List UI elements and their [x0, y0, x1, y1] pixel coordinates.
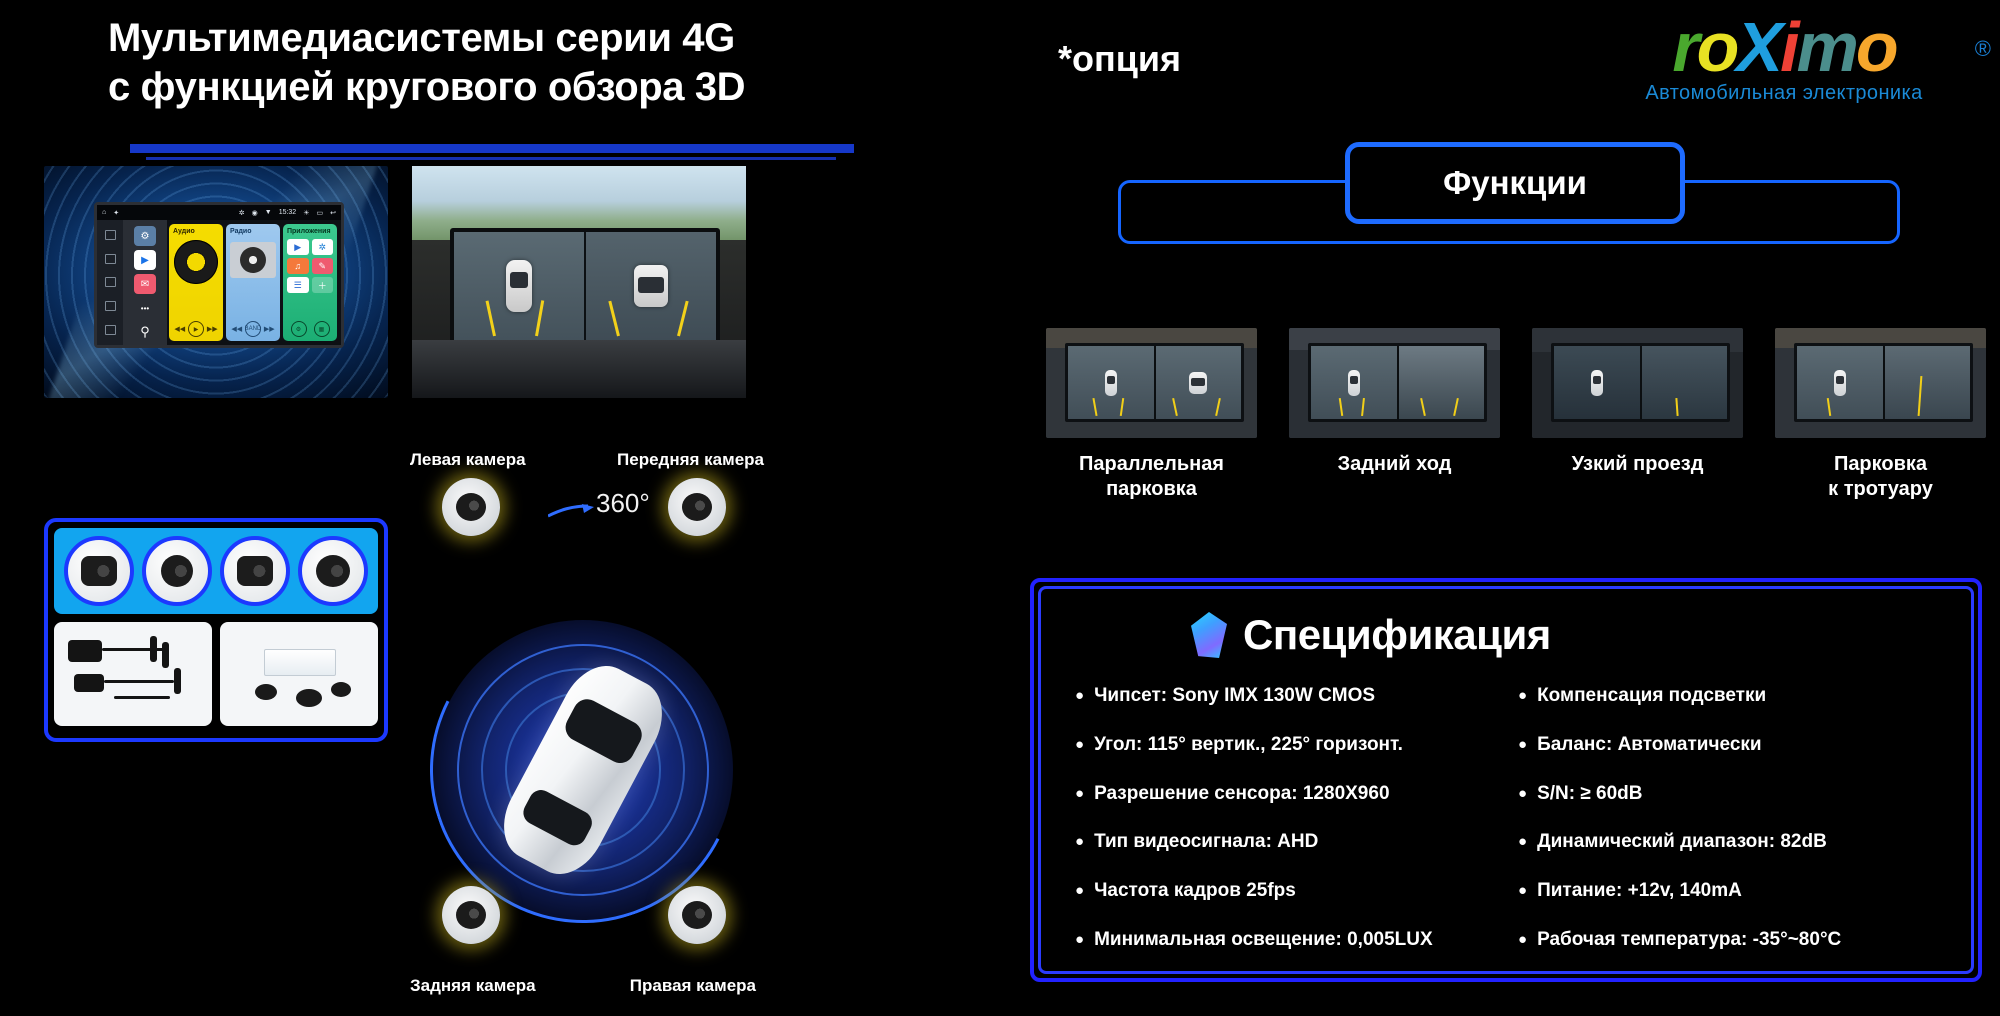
car-top-view	[506, 260, 532, 312]
window-icon[interactable]: ▭	[317, 209, 324, 217]
spec-item-text: Чипсет: Sony IMX 130W CMOS	[1094, 685, 1375, 708]
play-store-icon[interactable]: ▶	[134, 250, 156, 270]
card-radio[interactable]: Радио ◀◀ BAND ▶▶	[226, 224, 280, 341]
spec-item-text: Тип видеосигнала: AHD	[1094, 831, 1318, 854]
camera-thumb-1	[64, 536, 134, 606]
logo-letter-i: i	[1780, 6, 1796, 88]
vinyl-icon: ♪	[174, 240, 218, 284]
card-radio-title: Радио	[230, 228, 276, 235]
spec-item: ●Минимальная освещение: 0,005LUX	[1075, 929, 1494, 952]
spec-item-text: Питание: +12v, 140mA	[1537, 880, 1742, 903]
mail-icon[interactable]: ✉	[134, 274, 156, 294]
label-camera-right: Правая камера	[630, 976, 756, 996]
camera-360-diagram: 360° Левая камера Передняя камера Задняя…	[400, 452, 766, 998]
specification-title: Спецификация	[1243, 611, 1551, 659]
equalizer-icon[interactable]: ☰	[287, 277, 309, 293]
bullet-icon: ●	[1075, 929, 1084, 951]
functions-grid: Параллельная парковка Задний ход	[1046, 328, 1986, 514]
specification-column-left: ●Чипсет: Sony IMX 130W CMOS ●Угол: 115° …	[1075, 685, 1494, 978]
head-unit-photo: ⌂ ✦ ✲ ◉ ▼ 15:32 ☀ ▭ ↩	[44, 166, 388, 398]
label-camera-left: Левая камера	[410, 452, 526, 470]
degrees-label: 360°	[596, 488, 650, 519]
logo-letter-o2: o	[1856, 6, 1896, 88]
spec-item-text: Баланс: Автоматически	[1537, 734, 1762, 757]
brand-logo-wordmark: roXimo ®	[1584, 6, 1984, 88]
mounting-kit-photo	[220, 622, 378, 726]
photo-dashboard	[412, 340, 746, 398]
camera-badge-left	[442, 478, 500, 536]
function-label-line2: парковка	[1079, 477, 1224, 502]
title-underline-secondary	[146, 157, 836, 160]
function-label-line1: Параллельная	[1079, 452, 1224, 477]
play-icon[interactable]: ▶	[188, 321, 204, 337]
spec-item-text: Компенсация подсветки	[1537, 685, 1766, 708]
bullet-icon: ●	[1075, 880, 1084, 902]
spec-item: ●Рабочая температура: -35°~80°C	[1518, 929, 1937, 952]
card-apps-title: Приложения	[287, 228, 333, 235]
function-label-line1: Задний ход	[1338, 452, 1452, 477]
brand-logo: roXimo ® Автомобильная электроника	[1584, 6, 1984, 124]
spec-item: ●Разрешение сенсора: 1280X960	[1075, 783, 1494, 806]
card-audio[interactable]: Аудио ♪ ◀◀ ▶ ▶▶	[169, 224, 223, 341]
logo-letter-m: m	[1797, 6, 1856, 88]
camera-lineup	[54, 528, 378, 614]
specification-column-right: ●Компенсация подсветки ●Баланс: Автомати…	[1518, 685, 1937, 978]
power-icon[interactable]	[105, 230, 116, 240]
option-note: *опция	[1058, 38, 1181, 80]
functions-title-chip: Функции	[1345, 142, 1685, 224]
navigation-icon[interactable]: ⚲	[134, 322, 156, 342]
specification-header: Спецификация	[1041, 589, 1971, 659]
function-parallel-parking[interactable]: Параллельная парковка	[1046, 328, 1257, 514]
function-label-line1: Узкий проезд	[1572, 452, 1704, 477]
registered-icon: ®	[1975, 8, 1988, 90]
spec-item: ●Тип видеосигнала: AHD	[1075, 831, 1494, 854]
rotation-arrow-icon	[548, 504, 594, 518]
spec-item-text: Минимальная освещение: 0,005LUX	[1094, 929, 1433, 952]
band-button[interactable]: BAND	[245, 321, 261, 337]
bullet-icon: ●	[1518, 929, 1527, 951]
crystal-icon	[1191, 612, 1227, 658]
apps-bottom-row: ⚙ ▦	[287, 321, 333, 337]
music-icon[interactable]: ♫	[287, 258, 309, 274]
camera-badge-rear	[442, 886, 500, 944]
function-narrow-passage[interactable]: Узкий проезд	[1532, 328, 1743, 514]
audio-transport: ◀◀ ▶ ▶▶	[173, 321, 219, 337]
apps-icon[interactable]	[105, 254, 116, 264]
spec-item: ●Баланс: Автоматически	[1518, 734, 1937, 757]
prev-icon[interactable]: ◀◀	[231, 325, 242, 333]
more-icon[interactable]: •••	[134, 298, 156, 318]
next-icon[interactable]: ▶▶	[207, 325, 218, 333]
dash-screen	[450, 228, 720, 344]
wifi-icon: ▼	[265, 209, 272, 216]
bullet-icon: ●	[1518, 685, 1527, 707]
logo-letter-r: r	[1672, 6, 1696, 88]
spec-item: ●Частота кадров 25fps	[1075, 880, 1494, 903]
dash-rear-view	[586, 232, 716, 340]
specification-frame: Спецификация ●Чипсет: Sony IMX 130W CMOS…	[1038, 586, 1974, 974]
dash-birdseye-view	[454, 232, 584, 340]
bullet-icon: ●	[1075, 831, 1084, 853]
function-screenshot	[1046, 328, 1257, 438]
label-camera-rear: Задняя камера	[410, 976, 536, 996]
location-icon: ◉	[252, 209, 258, 217]
head-unit-statusbar: ⌂ ✦ ✲ ◉ ▼ 15:32 ☀ ▭ ↩	[97, 205, 341, 220]
camera-badge-front	[668, 478, 726, 536]
function-label: Параллельная парковка	[1079, 452, 1224, 502]
card-apps[interactable]: Приложения ▶ ✲ ♫ ✎ ☰ ＋ ⚙ ▦	[283, 224, 337, 341]
bullet-icon: ●	[1075, 734, 1084, 756]
assistant-icon[interactable]: ✦	[113, 209, 119, 217]
next-icon[interactable]: ▶▶	[264, 325, 275, 333]
function-label-line2: к тротуару	[1828, 477, 1933, 502]
bullet-icon: ●	[1518, 880, 1527, 902]
spec-item: ●S/N: ≥ 60dB	[1518, 783, 1937, 806]
status-clock: 15:32	[279, 209, 297, 216]
back-icon[interactable]	[105, 277, 116, 287]
camera-products-panel	[44, 518, 388, 742]
specification-panel: Спецификация ●Чипсет: Sony IMX 130W CMOS…	[1030, 578, 1982, 982]
turntable-icon	[230, 242, 276, 278]
camera-badge-right	[668, 886, 726, 944]
function-reverse[interactable]: Задний ход	[1289, 328, 1500, 514]
specification-columns: ●Чипсет: Sony IMX 130W CMOS ●Угол: 115° …	[1041, 659, 1971, 978]
camera-thumb-4	[298, 536, 368, 606]
function-curb-parking[interactable]: Парковка к тротуару	[1775, 328, 1986, 514]
accessories-row	[54, 622, 378, 726]
page-title: Мультимедиасистемы серии 4G с функцией к…	[108, 14, 928, 112]
head-unit-side-rail	[97, 220, 123, 345]
function-label: Узкий проезд	[1572, 452, 1704, 477]
bluetooth-icon: ✲	[239, 209, 245, 217]
camera-thumb-3	[220, 536, 290, 606]
head-unit-screen: ⌂ ✦ ✲ ◉ ▼ 15:32 ☀ ▭ ↩	[94, 202, 344, 348]
page-title-line1: Мультимедиасистемы серии 4G	[108, 14, 928, 63]
bullet-icon: ●	[1075, 685, 1084, 707]
function-label: Парковка к тротуару	[1828, 452, 1933, 502]
car-rear-view	[634, 265, 668, 307]
spec-item: ●Компенсация подсветки	[1518, 685, 1937, 708]
video-icon[interactable]: ▶	[287, 239, 309, 255]
back-icon[interactable]: ↩	[330, 209, 336, 217]
settings-icon[interactable]: ⚙	[134, 226, 156, 246]
head-unit-body: ⚙ ▶ ✉ ••• ⚲ Аудио ♪ ◀◀ ▶ ▶▶	[97, 220, 341, 345]
spec-item-text: Разрешение сенсора: 1280X960	[1094, 783, 1389, 806]
function-screenshot	[1532, 328, 1743, 438]
function-label-line1: Парковка	[1828, 452, 1933, 477]
prev-icon[interactable]: ◀◀	[174, 325, 185, 333]
plus-icon[interactable]: ＋	[312, 277, 334, 293]
page-title-line2: с функцией кругового обзора 3D	[108, 63, 928, 112]
logo-letter-o1: o	[1697, 6, 1737, 88]
settings-icon[interactable]: ⚙	[291, 321, 307, 337]
function-screenshot	[1775, 328, 1986, 438]
brightness-icon[interactable]: ☀	[303, 209, 309, 217]
spec-item: ●Питание: +12v, 140mA	[1518, 880, 1937, 903]
dash-360-photo	[412, 166, 746, 398]
spec-item: ●Чипсет: Sony IMX 130W CMOS	[1075, 685, 1494, 708]
pen-icon[interactable]: ✎	[312, 258, 334, 274]
logo-letter-x: X	[1736, 6, 1780, 88]
title-underline	[130, 144, 854, 153]
radio-transport: ◀◀ BAND ▶▶	[230, 321, 276, 337]
volume-down-icon[interactable]	[105, 301, 116, 311]
spec-item-text: Динамический диапазон: 82dB	[1537, 831, 1827, 854]
slide-root: Мультимедиасистемы серии 4G с функцией к…	[0, 0, 2000, 1016]
functions-title: Функции	[1443, 164, 1587, 202]
label-camera-front: Передняя камера	[617, 452, 764, 470]
apps-tile-grid: ▶ ✲ ♫ ✎ ☰ ＋	[287, 239, 333, 293]
function-label: Задний ход	[1338, 452, 1452, 477]
head-unit-app-column: ⚙ ▶ ✉ ••• ⚲	[123, 220, 167, 345]
bullet-icon: ●	[1518, 831, 1527, 853]
wiring-harness-photo	[54, 622, 212, 726]
home-icon[interactable]: ⌂	[102, 209, 106, 216]
grid-icon[interactable]: ▦	[314, 321, 330, 337]
card-audio-title: Аудио	[173, 228, 219, 235]
spec-item: ●Динамический диапазон: 82dB	[1518, 831, 1937, 854]
volume-up-icon[interactable]	[105, 325, 116, 335]
spec-item: ●Угол: 115° вертик., 225° горизонт.	[1075, 734, 1494, 757]
function-screenshot	[1289, 328, 1500, 438]
bullet-icon: ●	[1518, 783, 1527, 805]
bullet-icon: ●	[1518, 734, 1527, 756]
spec-item-text: Частота кадров 25fps	[1094, 880, 1296, 903]
bluetooth-icon[interactable]: ✲	[312, 239, 334, 255]
spec-item-text: S/N: ≥ 60dB	[1537, 783, 1642, 806]
bullet-icon: ●	[1075, 783, 1084, 805]
spec-item-text: Угол: 115° вертик., 225° горизонт.	[1094, 734, 1403, 757]
head-unit-cards: Аудио ♪ ◀◀ ▶ ▶▶ Радио ◀◀ BAND	[167, 220, 341, 345]
camera-thumb-2	[142, 536, 212, 606]
spec-item-text: Рабочая температура: -35°~80°C	[1537, 929, 1841, 952]
